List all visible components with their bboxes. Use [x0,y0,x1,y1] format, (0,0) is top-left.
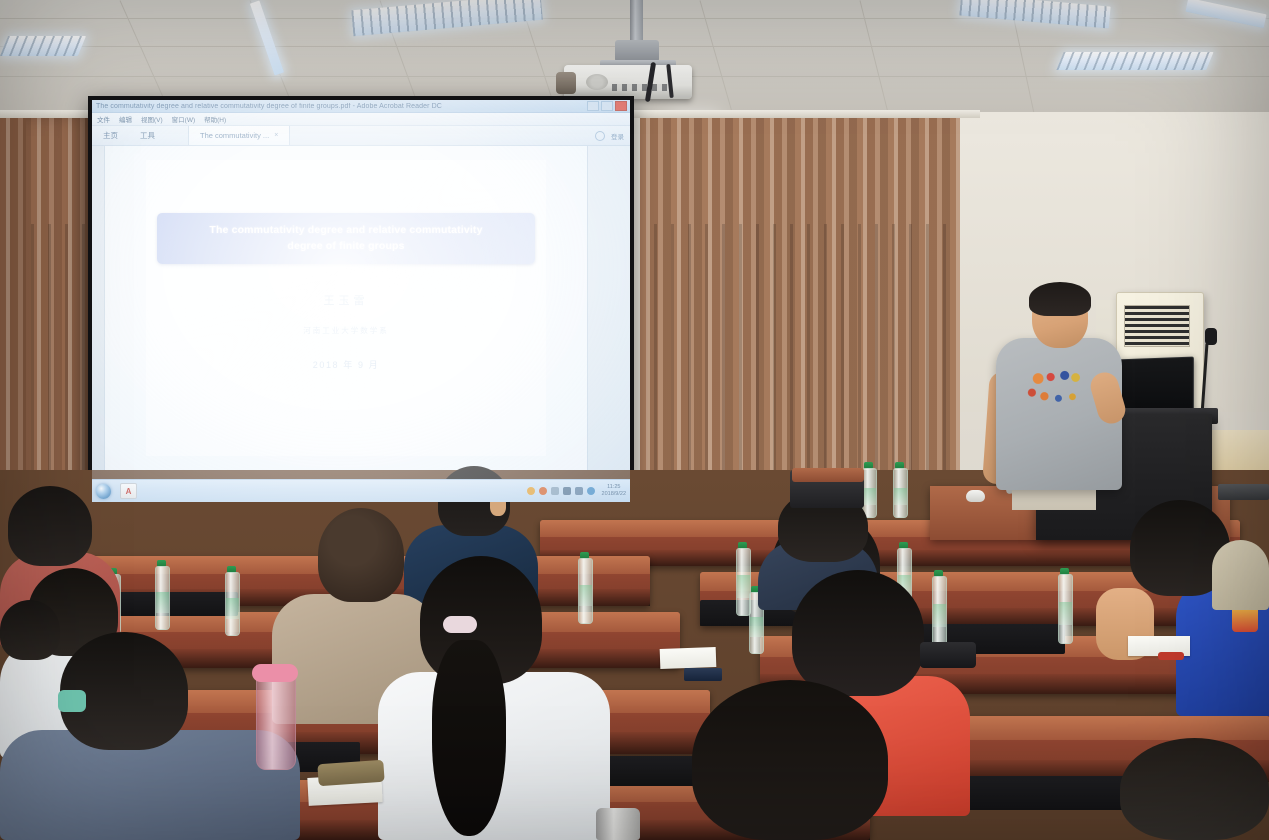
tab-bar[interactable]: 主页 工具 The commutativity ... × 登录 [92,126,630,146]
window-title: The commutativity degree and relative co… [92,103,587,110]
cloud-icon[interactable] [587,487,595,495]
marker-icon [1158,652,1184,660]
notebook-page [660,647,717,669]
window-controls[interactable] [587,101,630,111]
volume-icon[interactable] [539,487,547,495]
pencil-case-icon [317,760,384,787]
adobe-reader-glyph: A [126,487,132,496]
clock-time: 11:25 [602,484,626,491]
hair-tie-icon [443,616,477,633]
pdf-body: The commutativity degree and relative co… [92,146,630,502]
presenter-hair [1029,282,1091,316]
presentation-slide: The commutativity degree and relative co… [146,160,546,456]
ac-grille-icon [1124,305,1190,347]
menu-item-window[interactable]: 窗口(W) [172,114,195,124]
slide-title-line-1: The commutativity degree and relative co… [171,222,521,238]
taskbar-clock[interactable]: 11:25 2018/9/22 [599,484,626,498]
input-method-icon[interactable] [575,487,583,495]
tab-home[interactable]: 主页 [92,126,129,145]
chair-back-icon [792,468,864,482]
minimize-button[interactable] [587,101,599,111]
computer-mouse-icon [966,490,985,502]
projection-screen: The commutativity degree and relative co… [88,96,634,506]
projector-vent-icon [586,74,608,90]
menu-item-edit[interactable]: 编辑 [119,114,132,124]
keyboard-icon [1218,484,1269,500]
system-tray[interactable]: 11:25 2018/9/22 [527,484,630,498]
pdf-navigation-pane[interactable] [92,146,105,502]
network-icon[interactable] [527,487,535,495]
projector-bracket [615,40,659,62]
menu-item-file[interactable]: 文件 [97,114,110,124]
thermos-icon [596,808,640,840]
tumbler-bottle [256,672,296,770]
slide-title-line-2: degree of finite groups [171,238,521,254]
windows-taskbar[interactable]: A 11:25 2018/9/22 [92,479,630,502]
slide-title-box: The commutativity degree and relative co… [157,213,535,264]
battery-icon[interactable] [563,487,571,495]
tshirt-graphic [1021,364,1099,416]
bench-cushion [118,592,238,616]
phone-icon [684,668,722,681]
pdf-tools-pane[interactable] [587,146,630,502]
maximize-button[interactable] [601,101,613,111]
signin-button[interactable]: 登录 [611,131,624,141]
help-circle-icon[interactable] [595,131,605,141]
tab-document-label: The commutativity ... [200,131,269,140]
slide-author: 王玉雷 [146,292,546,308]
shield-icon[interactable] [551,487,559,495]
tumbler-cap-icon [252,664,298,682]
menu-item-view[interactable]: 视图(V) [141,114,163,124]
close-button[interactable] [615,101,627,111]
projector-ports [612,84,672,91]
pdf-page-area: The commutativity degree and relative co… [105,146,587,502]
tab-document[interactable]: The commutativity ... × [188,126,290,145]
projector-mount-pole [630,0,643,44]
ponytail [432,640,506,836]
menu-item-help[interactable]: 帮助(H) [204,114,226,124]
tab-tools[interactable]: 工具 [129,126,166,145]
adobe-reader-icon[interactable]: A [120,483,137,499]
curtain-center [640,112,960,502]
clock-date: 2018/9/22 [602,491,626,498]
tabbar-right-group[interactable]: 登录 [595,131,630,141]
projector-lens-icon [556,72,576,94]
close-icon[interactable]: × [274,132,278,139]
menu-bar[interactable]: 文件 编辑 视图(V) 窗口(W) 帮助(H) [92,113,630,126]
bag-icon [920,642,976,668]
lecture-hall-photo: The commutativity degree and relative co… [0,0,1269,840]
windows-start-orb-icon[interactable] [96,484,111,499]
window-titlebar: The commutativity degree and relative co… [92,100,630,113]
wristband-icon [58,690,86,712]
slide-affiliation: 河南工业大学数学系 [146,325,546,336]
slide-date: 2018 年 9 月 [146,358,546,371]
